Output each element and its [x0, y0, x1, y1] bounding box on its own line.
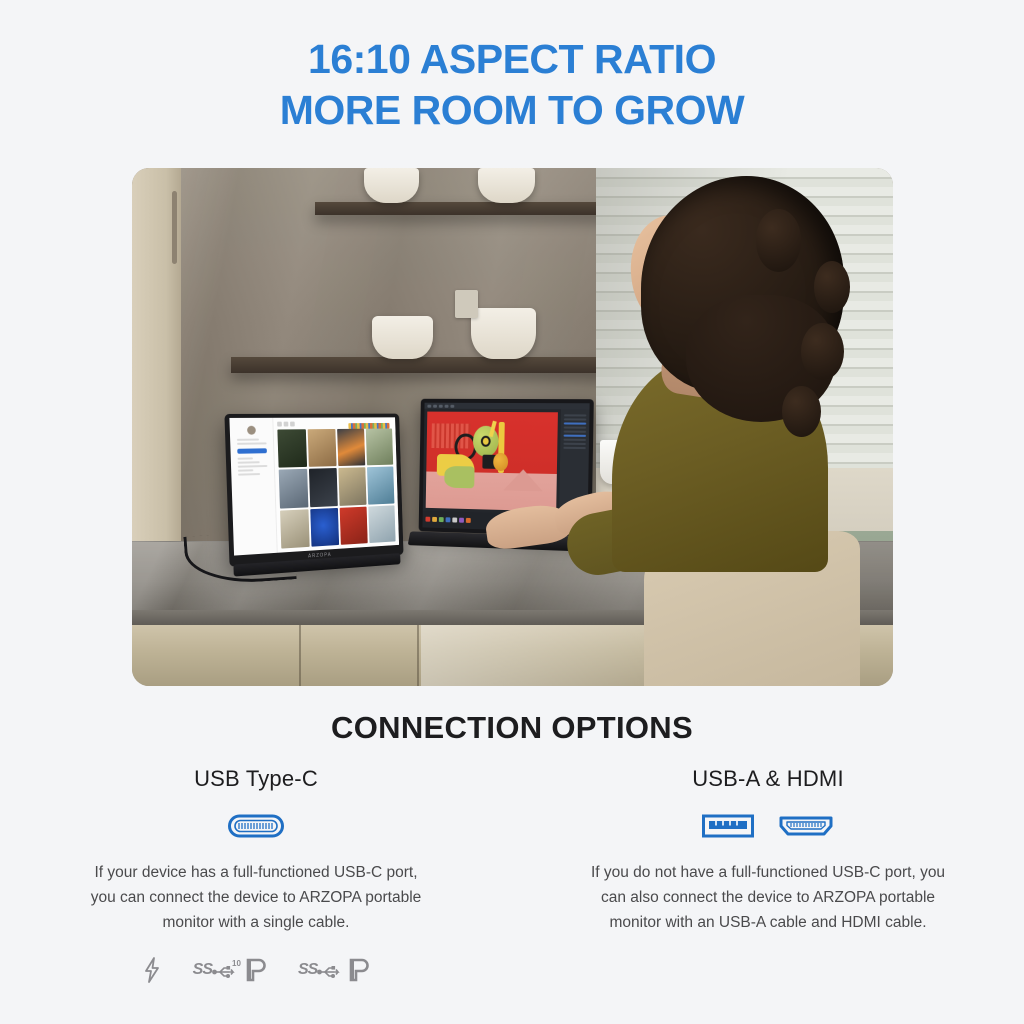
design-canvas [426, 411, 558, 511]
sidebar-line [238, 473, 260, 476]
headline-line-1: 16:10 ASPECT RATIO [0, 34, 1024, 85]
section-title: CONNECTION OPTIONS [0, 710, 1024, 746]
option-description: If your device has a full-functioned USB… [0, 860, 512, 935]
hair-curl [782, 386, 821, 438]
portable-monitor: ARZOPA [225, 414, 404, 567]
certification-logos: SS 10 SS [0, 957, 512, 983]
displayport-icon [246, 958, 266, 982]
shelf-bowl [471, 308, 536, 359]
option-title: USB Type-C [0, 766, 512, 792]
superspeed-usb-displayport-icon: SS [298, 958, 369, 982]
sidebar-line [238, 465, 268, 468]
hdmi-port-icon [778, 813, 834, 839]
option-description: If you do not have a full-functioned USB… [512, 860, 1024, 935]
sidebar-button [237, 448, 267, 453]
sidebar-line [238, 461, 260, 464]
shelf-bowl [478, 168, 534, 203]
sidebar-line [238, 457, 253, 459]
ss-label: SS [298, 961, 317, 979]
monitor-screen [230, 417, 400, 555]
photo-grid [277, 429, 395, 549]
cabinet-seam [299, 625, 301, 686]
usb-trident-icon: 10 [212, 958, 246, 982]
shelf-bowl [364, 168, 419, 203]
option-icons [0, 811, 512, 841]
usb-trident-icon [317, 958, 349, 982]
person [566, 168, 893, 686]
ss-label: SS [193, 961, 212, 979]
thunderbolt-power-icon [143, 957, 161, 983]
hair-curl [814, 261, 850, 313]
displayport-icon [349, 958, 369, 982]
usb-a-port-icon [702, 813, 754, 839]
sidebar-line [237, 442, 267, 444]
connection-options: USB Type-C If your device has a full-fun [0, 766, 1024, 935]
usb-c-port-icon [228, 813, 284, 839]
gallery-sidebar [230, 418, 278, 556]
hero-photo: ARZOPA [132, 168, 893, 686]
sidebar-line [238, 469, 253, 471]
hair-curl [801, 323, 844, 380]
page-title: 16:10 ASPECT RATIO MORE ROOM TO GROW [0, 34, 1024, 136]
cabinet-seam [417, 625, 419, 686]
avatar [247, 426, 256, 435]
hair-curl [756, 209, 802, 271]
svg-text:10: 10 [232, 959, 241, 968]
option-icons [512, 811, 1024, 841]
option-title: USB-A & HDMI [512, 766, 1024, 792]
shelf-bowl [372, 316, 433, 359]
gallery-main [273, 417, 399, 552]
wall-outlet [455, 290, 478, 318]
superspeed-usb-10gbps-displayport-icon: SS 10 [193, 958, 266, 982]
color-swatch-strip [349, 423, 390, 429]
headline-line-2: MORE ROOM TO GROW [0, 85, 1024, 136]
sidebar-line [237, 439, 259, 441]
hero-scene: ARZOPA [132, 168, 893, 686]
product-marketing-page: 16:10 ASPECT RATIO MORE ROOM TO GROW [0, 0, 1024, 1024]
option-usb-a-hdmi: USB-A & HDMI [512, 766, 1024, 935]
monitor-body: ARZOPA [225, 414, 404, 567]
option-usb-c: USB Type-C If your device has a full-fun [0, 766, 512, 935]
